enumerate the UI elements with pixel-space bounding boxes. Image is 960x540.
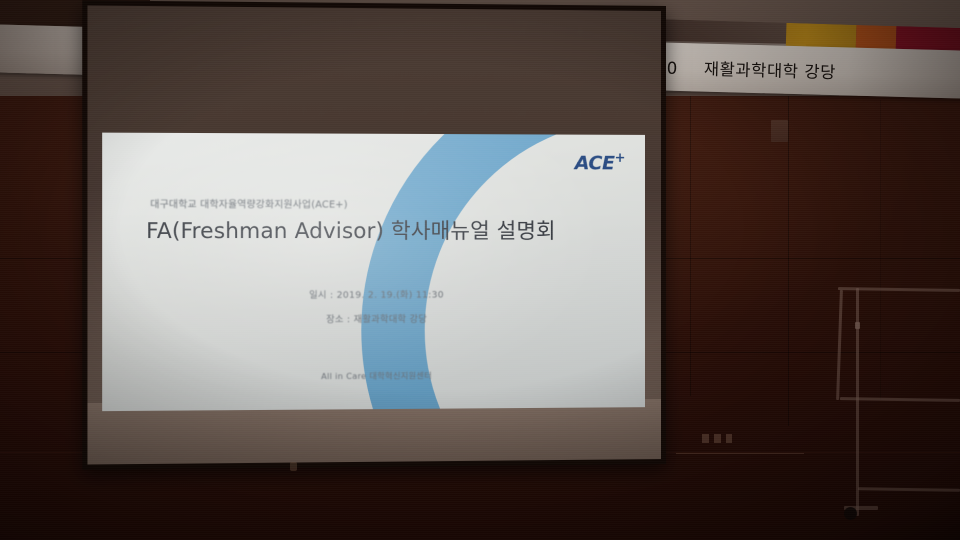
rack-caster-wheel <box>844 507 857 520</box>
rack-lower-bar <box>858 487 960 491</box>
slide-meta-venue: 장소 : 재활과학대학 강당 <box>102 311 645 326</box>
wall-switch-plate[interactable] <box>771 120 788 142</box>
presentation-slide: ACE+ 대구대학교 대학자율역량강화지원사업(ACE+) FA(Freshma… <box>102 133 645 412</box>
door-edge-line <box>788 96 789 426</box>
screen-upper-shadow <box>87 5 661 135</box>
screen-mount-bracket <box>290 462 297 471</box>
slide-title: FA(Freshman Advisor) 학사매뉴얼 설명회 <box>146 215 556 246</box>
rack-clamp <box>855 322 860 329</box>
garment-rack[interactable] <box>826 276 960 526</box>
wall-panel-line <box>690 96 691 396</box>
slide-subtitle: 대구대학교 대학자율역량강화지원사업(ACE+) <box>150 196 347 211</box>
projection-screen-surface: ACE+ 대구대학교 대학자율역량강화지원사업(ACE+) FA(Freshma… <box>87 5 661 464</box>
baseboard-line <box>676 453 804 454</box>
slide-meta-datetime: 일시 : 2019. 2. 19.(화) 11:30 <box>102 287 645 302</box>
ace-logo-plus: + <box>615 151 625 166</box>
wall-marking <box>702 434 709 443</box>
wall-marking <box>726 434 732 443</box>
ace-logo-text: ACE <box>575 152 615 174</box>
wall-marking <box>714 434 721 443</box>
projection-screen: ACE+ 대구대학교 대학자율역량강화지원사업(ACE+) FA(Freshma… <box>82 0 666 469</box>
rack-left-post <box>836 290 843 400</box>
ace-logo: ACE+ <box>575 151 625 175</box>
lecture-hall-photo: 2019. 2. 22.(금) 11:00재활과학대학 강당 ACE+ 대구대학… <box>0 0 960 540</box>
